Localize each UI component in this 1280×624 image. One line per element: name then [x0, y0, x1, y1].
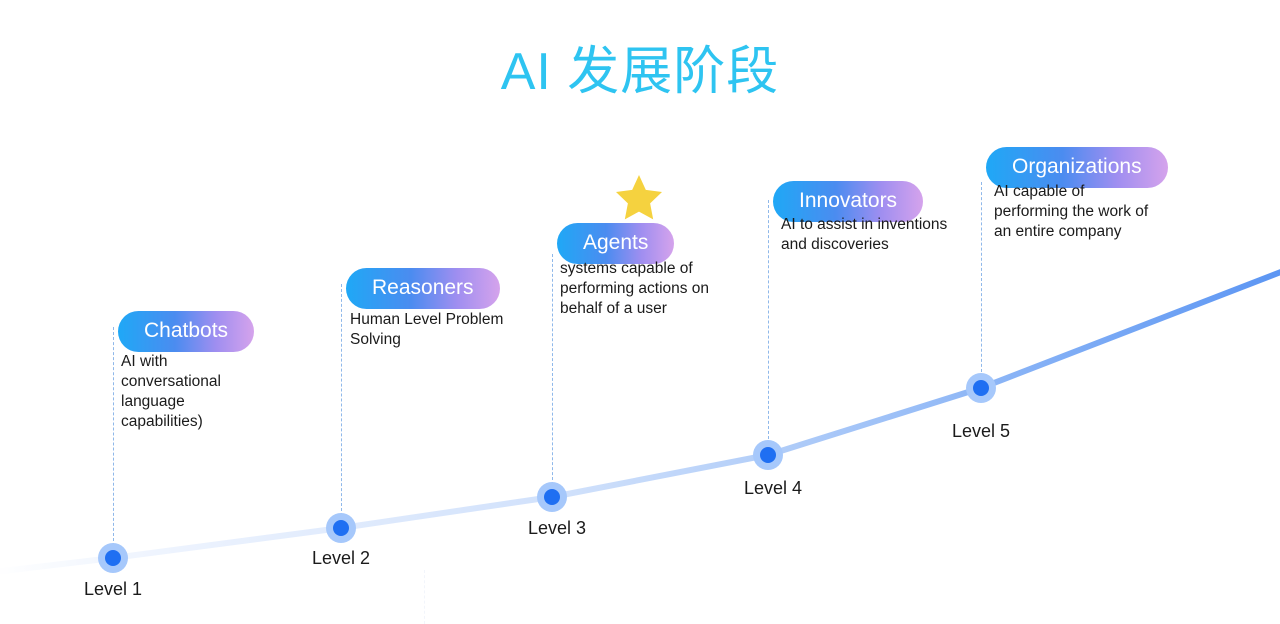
- level-marker-3[interactable]: [537, 482, 567, 512]
- connector-chatbots: [113, 327, 114, 546]
- connector-organizations: [981, 182, 982, 377]
- connector-agents: [552, 254, 553, 485]
- stage-pill-agents[interactable]: Agents: [557, 223, 674, 264]
- stage-description-reasoners: Human Level Problem Solving: [350, 310, 580, 350]
- level-label-4: Level 4: [723, 477, 823, 499]
- page-title: AI 发展阶段: [0, 40, 1280, 104]
- level-marker-4[interactable]: [753, 440, 783, 470]
- stage-pill-label-reasoners: Reasoners: [346, 268, 500, 309]
- star-icon: [615, 174, 663, 220]
- stage-pill-reasoners[interactable]: Reasoners: [346, 268, 500, 309]
- stage-pill-label-agents: Agents: [557, 223, 674, 264]
- stage-pill-label-chatbots: Chatbots: [118, 311, 254, 352]
- stage-description-chatbots: AI with conversational language capabili…: [121, 352, 311, 432]
- stage-description-organizations: AI capable of performing the work of an …: [994, 182, 1224, 242]
- stage-pill-chatbots[interactable]: Chatbots: [118, 311, 254, 352]
- level-marker-2[interactable]: [326, 513, 356, 543]
- level-label-1: Level 1: [63, 578, 163, 600]
- level-marker-5[interactable]: [966, 373, 996, 403]
- infographic-canvas: AI 发展阶段 Chatbots AI with conversational …: [0, 0, 1280, 624]
- level-label-5: Level 5: [931, 420, 1031, 442]
- level-marker-1[interactable]: [98, 543, 128, 573]
- level-label-3: Level 3: [507, 517, 607, 539]
- decorative-guide-line: [424, 570, 425, 624]
- stage-description-agents: systems capable of performing actions on…: [560, 259, 800, 319]
- connector-reasoners: [341, 284, 342, 516]
- level-label-2: Level 2: [291, 547, 391, 569]
- connector-innovators: [768, 200, 769, 444]
